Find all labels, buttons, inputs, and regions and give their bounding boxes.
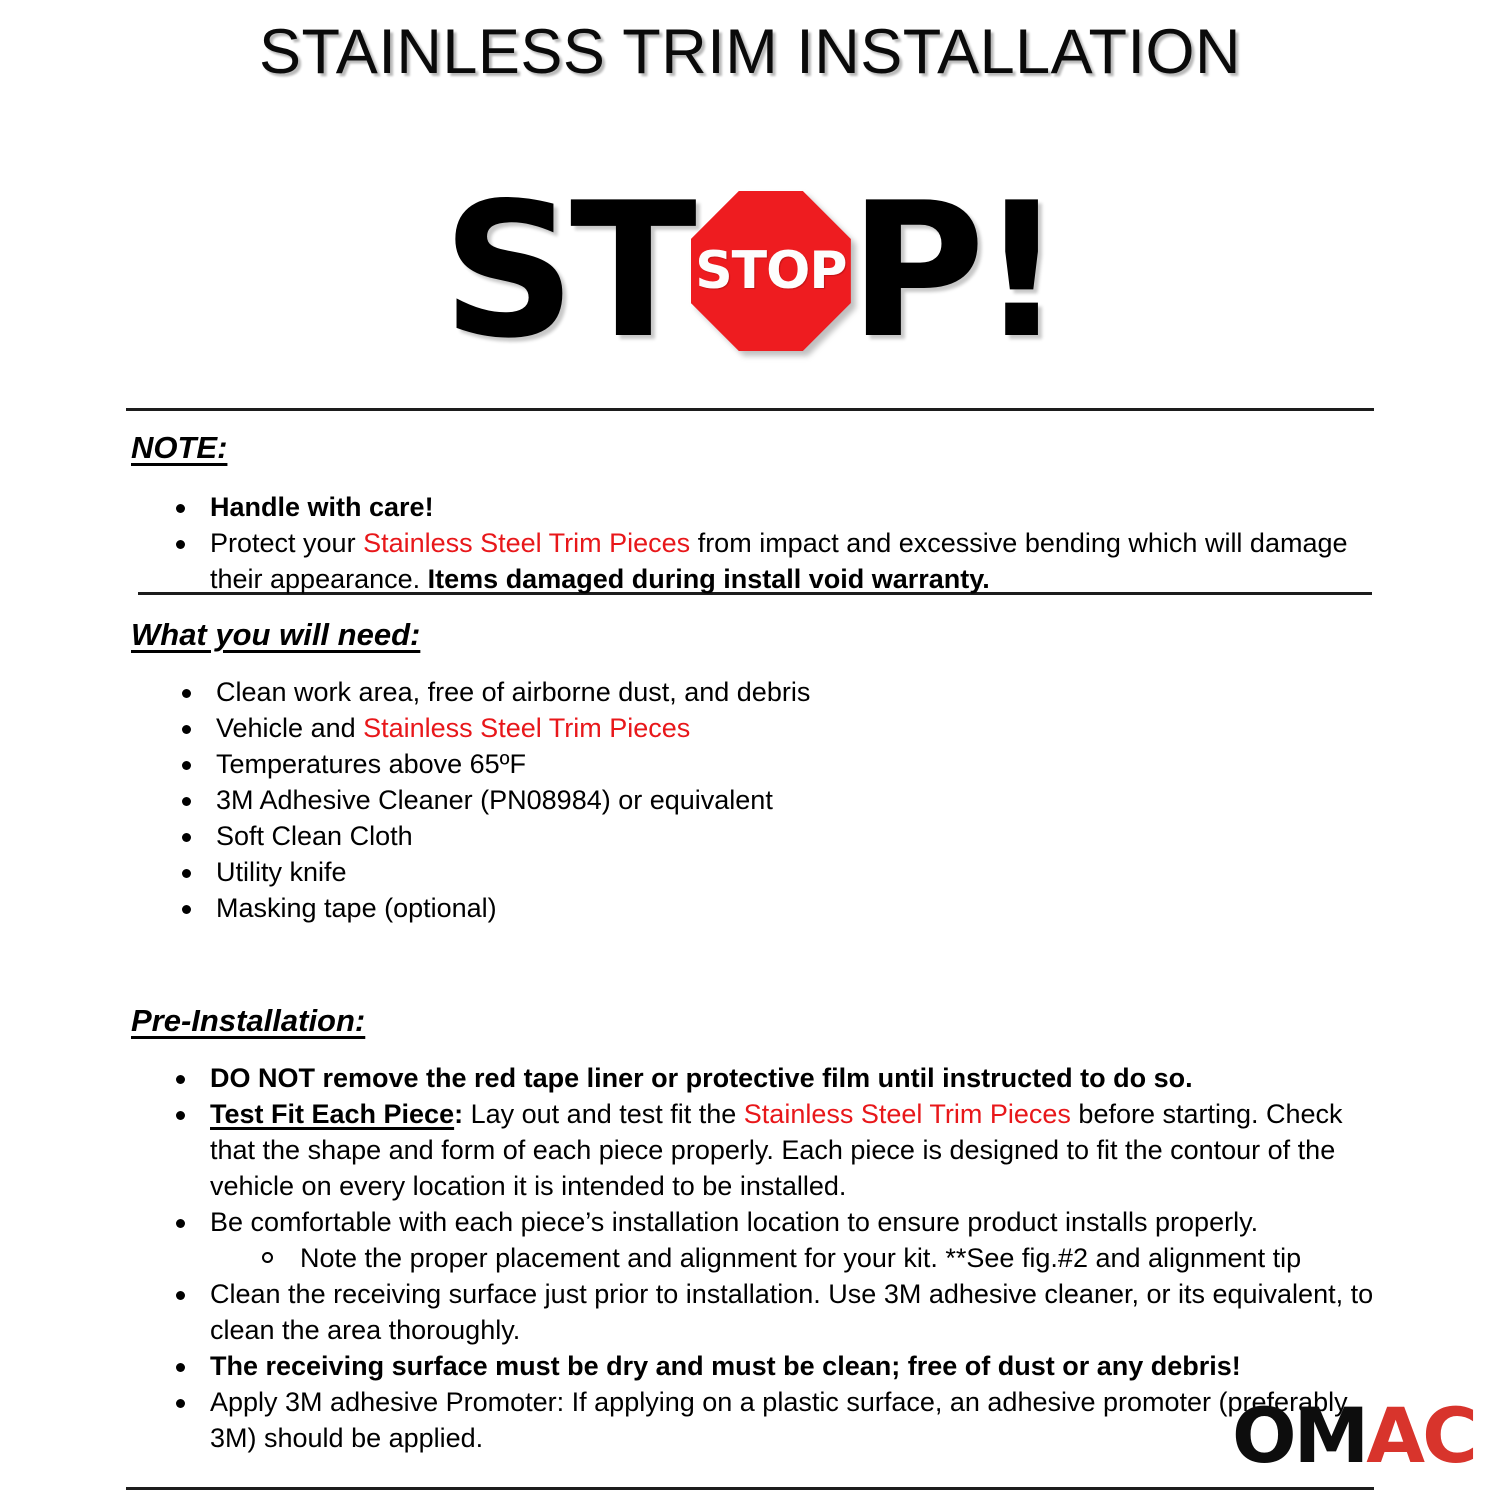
omac-logo-second: AC [1366,1391,1475,1480]
bullet-item: Protect your Stainless Steel Trim Pieces… [170,525,1380,597]
omac-logo-first: OM [1232,1391,1366,1480]
text-run: Masking tape (optional) [216,893,497,923]
bullet-item: Temperatures above 65ºF [170,746,1380,782]
bullet-item: Apply 3M adhesive Promoter: If applying … [170,1384,1395,1456]
what-you-need-bullet-list: Clean work area, free of airborne dust, … [170,674,1380,926]
text-run: Items damaged during install void warran… [428,564,990,594]
bullet-icon [176,1096,196,1132]
text-run: Protect your [210,528,363,558]
bullet-icon [182,854,202,890]
bullet-text: Apply 3M adhesive Promoter: If applying … [210,1387,1348,1453]
text-run: Stainless Steel Trim Pieces [363,713,690,743]
bullet-icon [182,746,202,782]
bullet-icon [182,710,202,746]
bullet-text: Temperatures above 65ºF [216,749,526,779]
bullet-item: Clean work area, free of airborne dust, … [170,674,1380,710]
heading-pre-installation: Pre-Installation: [131,1003,365,1039]
bullet-icon [176,525,196,561]
bullet-text: Protect your Stainless Steel Trim Pieces… [210,528,1348,594]
bullet-text: Clean the receiving surface just prior t… [210,1279,1373,1345]
divider-bottom [126,1487,1374,1490]
text-run: Handle with care! [210,492,434,522]
text-run: Clean work area, free of airborne dust, … [216,677,810,707]
heading-what-you-will-need: What you will need: [131,617,420,653]
stop-sign-logo: ST STOP P! [0,176,1500,366]
dot-icon [182,869,191,878]
bullet-text: Utility knife [216,857,347,887]
bullet-item: Soft Clean Cloth [170,818,1380,854]
stop-logo-right-letters: P! [849,178,1058,364]
text-run: Utility knife [216,857,347,887]
dot-icon [182,761,191,770]
text-run: Lay out and test fit the [463,1099,744,1129]
dot-icon [176,1291,185,1300]
bullet-text: 3M Adhesive Cleaner (PN08984) or equival… [216,785,773,815]
bullet-icon [176,1204,196,1240]
text-run: Note the proper placement and alignment … [300,1243,1301,1273]
text-run: : [454,1099,463,1129]
dot-icon [176,1111,185,1120]
text-run: Vehicle and [216,713,363,743]
bullet-text: Soft Clean Cloth [216,821,413,851]
bullet-text: Be comfortable with each piece’s install… [210,1207,1258,1237]
bullet-text: Note the proper placement and alignment … [300,1243,1301,1273]
circle-outline-icon [262,1252,273,1263]
bullet-icon [182,674,202,710]
stop-logo-left-letters: ST [442,178,691,364]
dot-icon [182,689,191,698]
bullet-text: Vehicle and Stainless Steel Trim Pieces [216,713,690,743]
note-bullet-list: Handle with care!Protect your Stainless … [170,489,1380,597]
octagon-icon: STOP [691,191,851,351]
bullet-icon [182,782,202,818]
dot-icon [182,725,191,734]
bullet-item: Masking tape (optional) [170,890,1380,926]
text-run: Test Fit Each Piece [210,1099,454,1129]
bullet-item: Test Fit Each Piece: Lay out and test fi… [170,1096,1395,1204]
bullet-item: Clean the receiving surface just prior t… [170,1276,1395,1348]
bullet-icon [176,1060,196,1096]
bullet-item: Utility knife [170,854,1380,890]
bullet-text: Handle with care! [210,492,434,522]
bullet-icon [182,890,202,926]
bullet-icon [176,1348,196,1384]
bullet-item: DO NOT remove the red tape liner or prot… [170,1060,1395,1096]
document-page: STAINLESS TRIM INSTALLATION ST STOP P! N… [0,0,1500,1500]
dot-icon [182,833,191,842]
text-run: The receiving surface must be dry and mu… [210,1351,1241,1381]
octagon-label: STOP [691,191,851,351]
text-run: Be comfortable with each piece’s install… [210,1207,1258,1237]
hollow-bullet-icon [262,1240,273,1276]
bullet-item: Handle with care! [170,489,1380,525]
bullet-item: 3M Adhesive Cleaner (PN08984) or equival… [170,782,1380,818]
dot-icon [182,905,191,914]
text-run: Stainless Steel Trim Pieces [744,1099,1071,1129]
bullet-icon [176,1384,196,1420]
divider-top [126,408,1374,411]
sub-bullet-item: Note the proper placement and alignment … [170,1240,1395,1276]
bullet-text: DO NOT remove the red tape liner or prot… [210,1063,1193,1093]
bullet-item: The receiving surface must be dry and mu… [170,1348,1395,1384]
bullet-icon [182,818,202,854]
page-title: STAINLESS TRIM INSTALLATION [0,14,1500,90]
dot-icon [176,1399,185,1408]
text-run: Soft Clean Cloth [216,821,413,851]
bullet-text: The receiving surface must be dry and mu… [210,1351,1241,1381]
bullet-item: Be comfortable with each piece’s install… [170,1204,1395,1240]
text-run: Apply 3M adhesive Promoter: If applying … [210,1387,1348,1453]
omac-brand-logo: OMAC [1232,1398,1475,1474]
dot-icon [182,797,191,806]
bullet-text: Masking tape (optional) [216,893,497,923]
dot-icon [176,1219,185,1228]
heading-note: NOTE: [131,430,227,466]
dot-icon [176,1363,185,1372]
bullet-text: Test Fit Each Piece: Lay out and test fi… [210,1099,1343,1201]
bullet-text: Clean work area, free of airborne dust, … [216,677,810,707]
text-run: Clean the receiving surface just prior t… [210,1279,1373,1345]
dot-icon [176,1075,185,1084]
bullet-icon [176,489,196,525]
text-run: Stainless Steel Trim Pieces [363,528,690,558]
text-run: DO NOT remove the red tape liner or prot… [210,1063,1193,1093]
pre-installation-bullet-list: DO NOT remove the red tape liner or prot… [170,1060,1395,1456]
dot-icon [176,504,185,513]
text-run: 3M Adhesive Cleaner (PN08984) or equival… [216,785,773,815]
dot-icon [176,540,185,549]
bullet-item: Vehicle and Stainless Steel Trim Pieces [170,710,1380,746]
text-run: Temperatures above 65ºF [216,749,526,779]
bullet-icon [176,1276,196,1312]
stop-logo-word: ST STOP P! [442,176,1058,366]
